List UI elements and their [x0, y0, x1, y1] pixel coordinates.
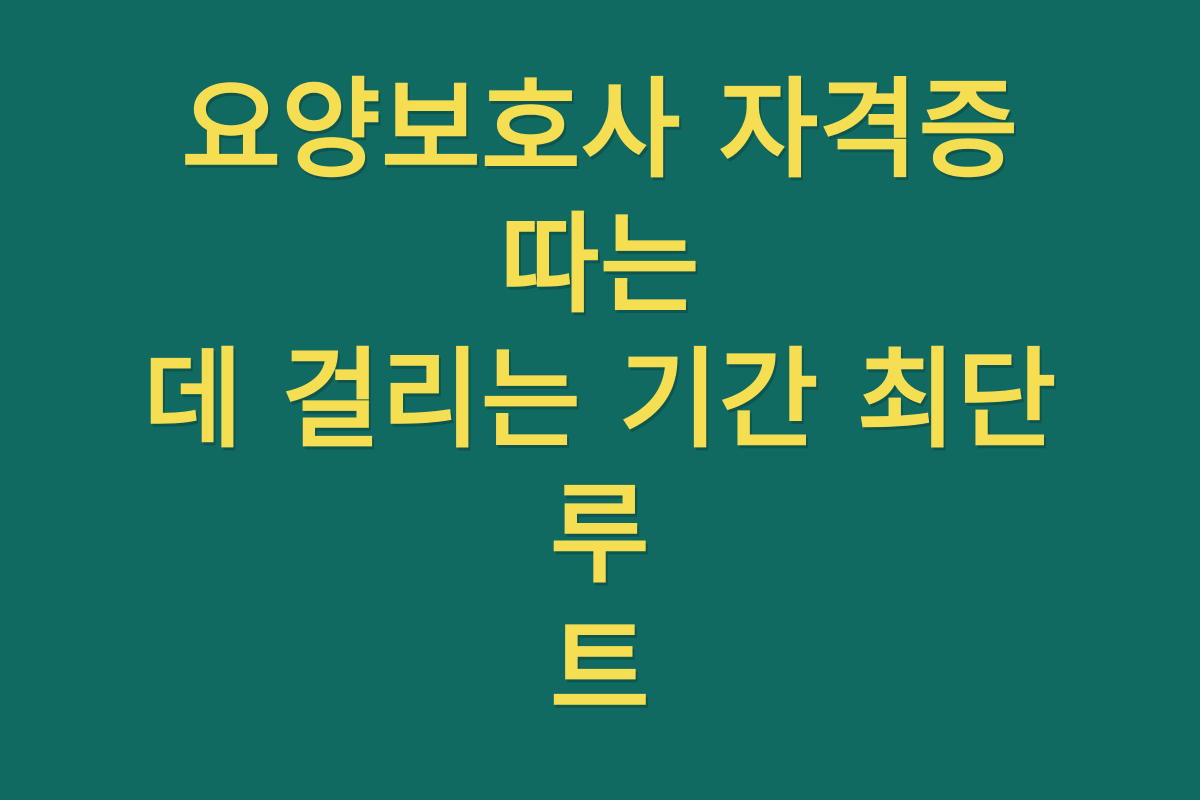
- headline-line-1: 요양보호사 자격증 따는: [75, 63, 1125, 333]
- thumbnail-banner: 요양보호사 자격증 따는 데 걸리는 기간 최단 루 트: [0, 0, 1200, 800]
- page-title: 요양보호사 자격증 따는 데 걸리는 기간 최단 루 트: [75, 63, 1125, 738]
- headline-line-2: 데 걸리는 기간 최단 루: [75, 333, 1125, 603]
- headline-line-3: 트: [75, 603, 1125, 738]
